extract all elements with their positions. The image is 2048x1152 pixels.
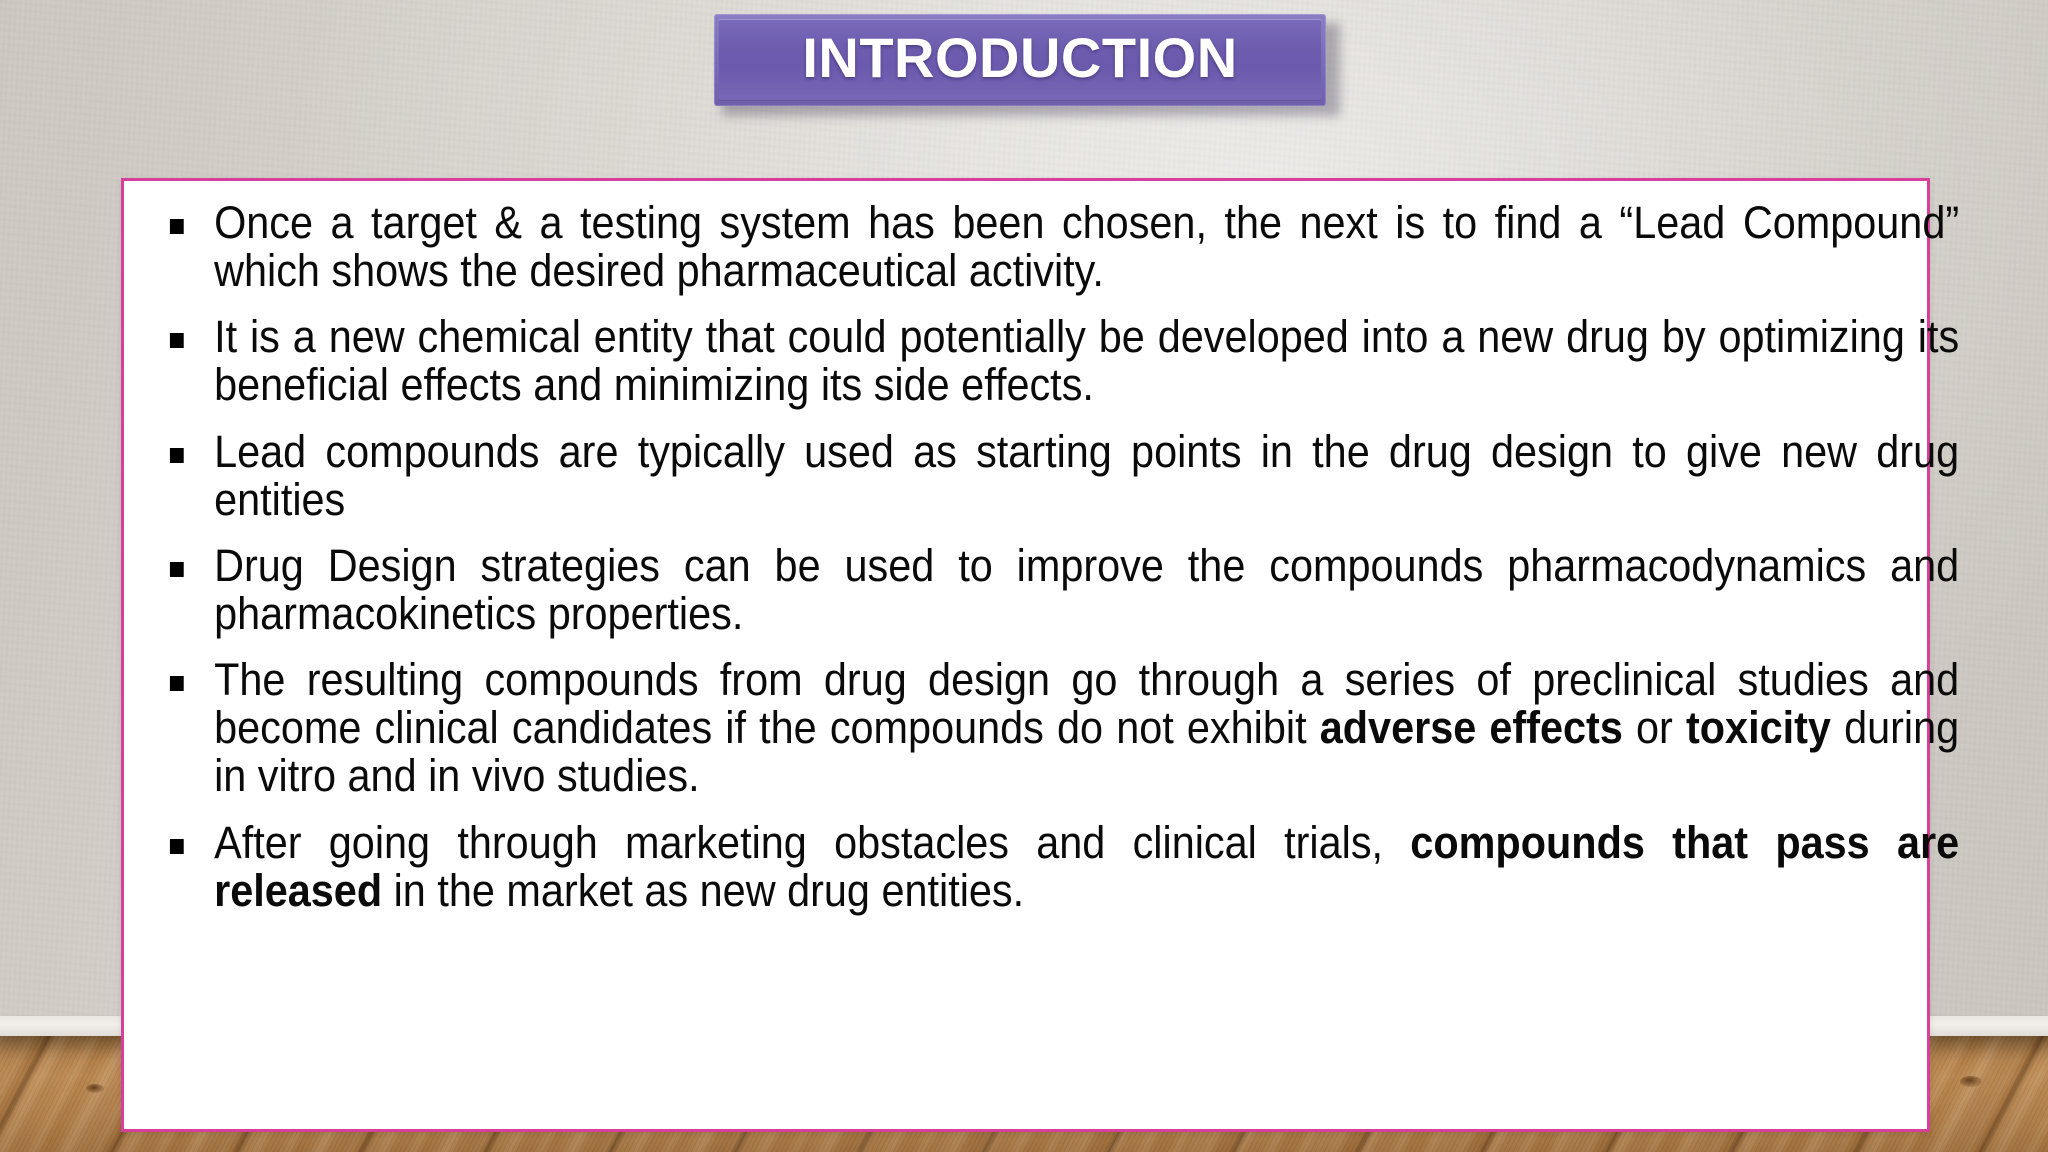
page-title: INTRODUCTION: [802, 30, 1237, 90]
title-banner-inner: INTRODUCTION: [719, 19, 1321, 101]
title-banner: INTRODUCTION: [714, 14, 1340, 114]
list-item: After going through marketing obstacles …: [146, 819, 1959, 915]
square-bullet-icon: [170, 839, 184, 854]
list-item-text: Once a target & a testing system has bee…: [214, 199, 1959, 295]
list-item-text: Lead compounds are typically used as sta…: [214, 428, 1959, 524]
content-panel: Once a target & a testing system has bee…: [121, 178, 1930, 1132]
list-item: Once a target & a testing system has bee…: [146, 199, 1959, 295]
wood-knot-icon: [1960, 1076, 1982, 1087]
wood-knot-icon: [86, 1084, 104, 1093]
list-item-text: It is a new chemical entity that could p…: [214, 313, 1959, 409]
list-item: Lead compounds are typically used as sta…: [146, 428, 1959, 524]
list-item: Drug Design strategies can be used to im…: [146, 542, 1959, 638]
title-banner-frame: INTRODUCTION: [714, 14, 1326, 106]
bullet-list: Once a target & a testing system has bee…: [146, 199, 1891, 915]
list-item-text: Drug Design strategies can be used to im…: [214, 542, 1959, 638]
square-bullet-icon: [170, 448, 184, 463]
list-item: The resulting compounds from drug design…: [146, 656, 1959, 800]
square-bullet-icon: [170, 562, 184, 577]
square-bullet-icon: [170, 219, 184, 234]
square-bullet-icon: [170, 333, 184, 348]
list-item-text: After going through marketing obstacles …: [214, 819, 1959, 915]
slide-canvas: INTRODUCTION Once a target & a testing s…: [0, 0, 2048, 1152]
list-item-text: The resulting compounds from drug design…: [214, 656, 1959, 800]
list-item: It is a new chemical entity that could p…: [146, 313, 1959, 409]
square-bullet-icon: [170, 676, 184, 691]
